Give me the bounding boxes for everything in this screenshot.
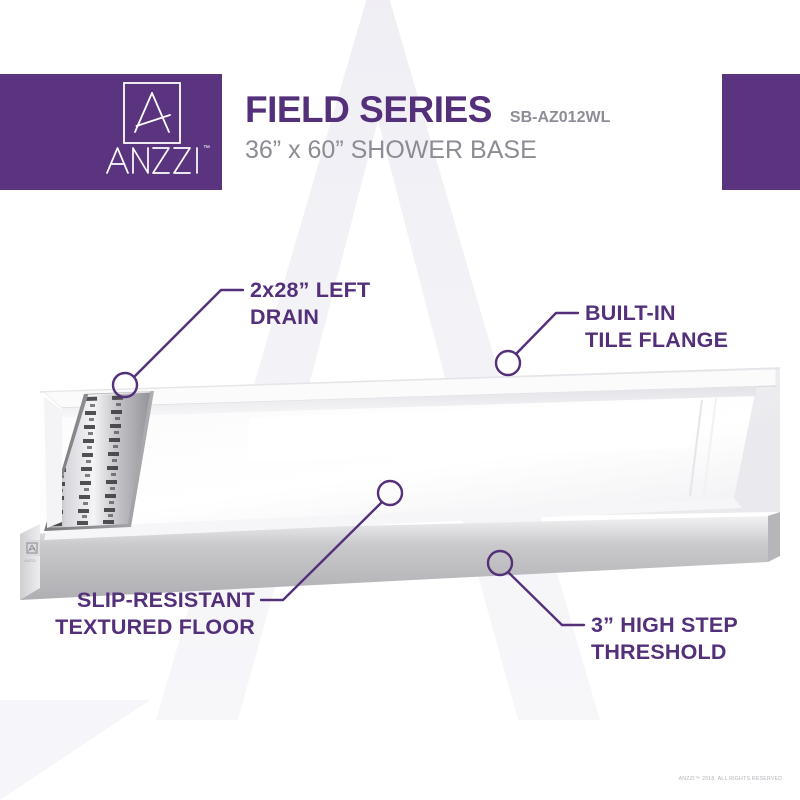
- callout-label-textured-floor: SLIP-RESISTANT TEXTURED FLOOR: [40, 587, 255, 641]
- copyright-notice: ANZZI™ 2018. ALL RIGHTS RESERVED.: [679, 776, 784, 782]
- trademark-symbol: ™: [203, 145, 210, 152]
- anzzi-a-logo-icon: [123, 82, 181, 144]
- page-title: FIELD SERIES: [245, 88, 492, 132]
- product-spec-sheet: ™ FIELD SERIES SB-AZ012WL 36” x 60” SHOW…: [0, 0, 800, 800]
- anzzi-wordmark: [105, 145, 205, 175]
- callout-label-drain: 2x28” LEFT DRAIN: [250, 277, 370, 331]
- svg-text:ANZZI: ANZZI: [24, 558, 36, 563]
- product-sku: SB-AZ012WL: [510, 108, 610, 128]
- brand-logo: ™: [105, 82, 213, 186]
- page-subtitle: 36” x 60” SHOWER BASE: [245, 133, 610, 167]
- header-band-right: [722, 74, 800, 190]
- callout-label-step-threshold: 3” HIGH STEP THRESHOLD: [591, 612, 738, 666]
- header-title-area: FIELD SERIES SB-AZ012WL 36” x 60” SHOWER…: [245, 88, 610, 167]
- base-right-face: [768, 512, 780, 562]
- callout-label-tile-flange: BUILT-IN TILE FLANGE: [585, 300, 728, 354]
- pan-left-inner-wall: [44, 397, 62, 528]
